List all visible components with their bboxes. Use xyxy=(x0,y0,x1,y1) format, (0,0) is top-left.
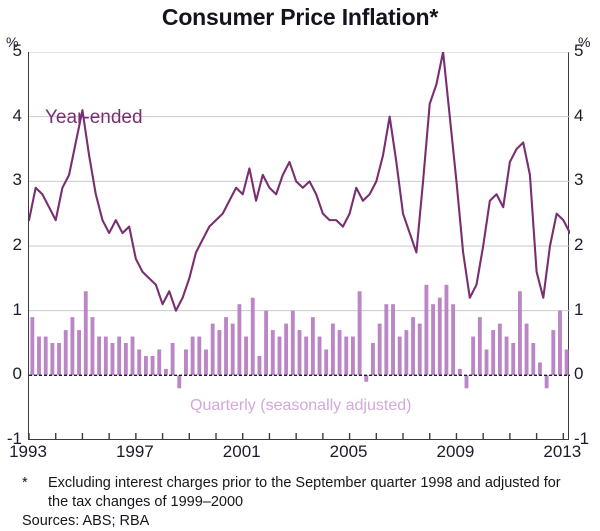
x-tick-label: 2009 xyxy=(425,442,485,462)
legend-quarterly: Quarterly (seasonally adjusted) xyxy=(190,397,411,415)
y-tick-label-right: 3 xyxy=(574,170,598,190)
x-tick-label: 2001 xyxy=(212,442,272,462)
x-tick-label: 2013 xyxy=(532,442,592,462)
y-tick-label-left: 5 xyxy=(0,41,22,61)
y-tick-label-left: 1 xyxy=(0,300,22,320)
x-tick-label: 1993 xyxy=(0,442,58,462)
y-tick-label-left: 3 xyxy=(0,170,22,190)
y-tick-label-right: 2 xyxy=(574,235,598,255)
y-tick-label-right: 1 xyxy=(574,300,598,320)
sources-text: Sources: ABS; RBA xyxy=(22,512,582,531)
quarterly-bars xyxy=(30,285,570,388)
y-tick-label-right: 4 xyxy=(574,106,598,126)
y-tick-label-right: 0 xyxy=(574,364,598,384)
y-tick-label-left: 4 xyxy=(0,106,22,126)
x-axis-ticks xyxy=(29,433,563,440)
gridlines xyxy=(29,52,570,311)
footnote-marker: * xyxy=(22,474,48,493)
legend-year-ended: Year-ended xyxy=(45,107,143,129)
y-tick-label-left: 0 xyxy=(0,364,22,384)
x-tick-label: 1997 xyxy=(105,442,165,462)
footnotes: * Excluding interest charges prior to th… xyxy=(22,474,582,531)
footnote-row: * Excluding interest charges prior to th… xyxy=(22,474,582,511)
page-title: Consumer Price Inflation* xyxy=(0,4,600,31)
x-tick-label: 2005 xyxy=(319,442,379,462)
y-tick-label-right: 5 xyxy=(574,41,598,61)
footnote-text: Excluding interest charges prior to the … xyxy=(48,474,582,511)
y-tick-label-left: 2 xyxy=(0,235,22,255)
